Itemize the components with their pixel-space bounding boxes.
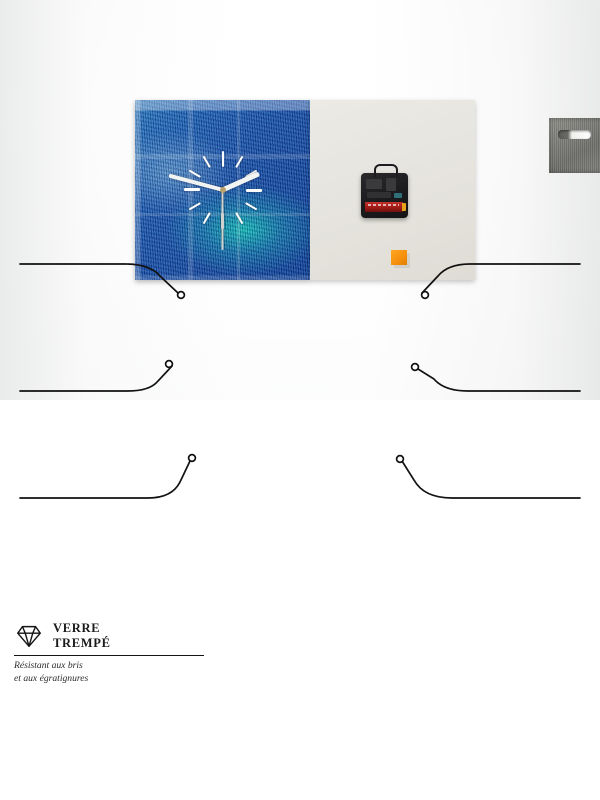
keyhole-slot — [558, 130, 591, 139]
connector-entretoise — [402, 461, 580, 498]
feature-desc-line2: et aux égratignures — [14, 673, 204, 686]
diamond-icon — [14, 621, 44, 651]
feature-verre-trempe: VERRE TREMPÉ Résistant aux bris et aux é… — [14, 621, 204, 686]
connector-bords — [20, 461, 190, 498]
feature-title-line2: TREMPÉ — [53, 636, 111, 651]
connector-endpoint-bords — [189, 455, 196, 462]
connector-endpoint-poignees — [422, 292, 429, 299]
connector-mecanisme — [418, 369, 580, 391]
feature-title-line1: VERRE — [53, 621, 111, 636]
infographic-canvas: VERRE TREMPÉ Résistant aux bris et aux é… — [0, 0, 600, 400]
connector-endpoint-entretoise — [397, 456, 404, 463]
callout-connectors — [0, 180, 600, 580]
metal-hanger-plate — [549, 118, 600, 173]
hanger-loop — [374, 164, 398, 177]
feature-desc-line1: Résistant aux bris — [14, 660, 204, 673]
feature-divider — [14, 655, 204, 657]
feature-title: VERRE TREMPÉ — [53, 621, 111, 652]
connector-endpoint-verre — [178, 292, 185, 299]
connector-verre — [20, 264, 178, 293]
connector-impression — [20, 366, 172, 391]
connector-endpoint-mecanisme — [412, 364, 419, 371]
feature-header: VERRE TREMPÉ — [14, 621, 204, 652]
feature-description: Résistant aux bris et aux égratignures — [14, 660, 204, 686]
connector-poignees — [422, 264, 580, 293]
connector-endpoint-impression — [166, 361, 173, 368]
